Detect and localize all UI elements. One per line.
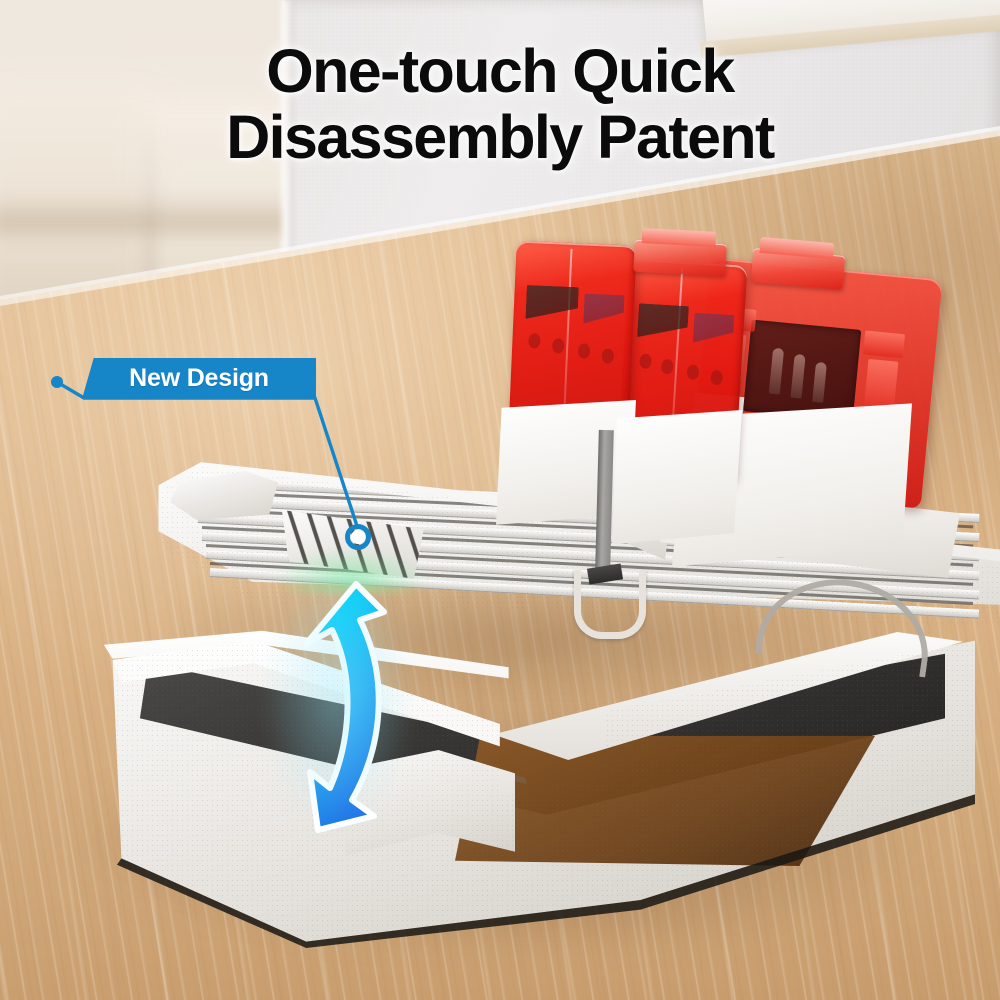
module-middle-base — [612, 410, 742, 550]
rotation-arrow-glow — [258, 558, 418, 838]
module-right-bar — [863, 330, 905, 358]
background-floor-line — [0, 196, 310, 232]
product-banner: New Design One-touch Quick Disassembly P… — [0, 0, 1000, 1000]
headline-line-2: Disassembly Patent — [0, 104, 1000, 170]
new-design-badge-label: New Design — [129, 366, 269, 391]
new-design-badge: New Design — [82, 358, 316, 399]
headline-line-1: One-touch Quick — [266, 37, 733, 105]
page-title: One-touch Quick Disassembly Patent — [0, 38, 1000, 170]
rotation-arrow — [248, 548, 428, 848]
